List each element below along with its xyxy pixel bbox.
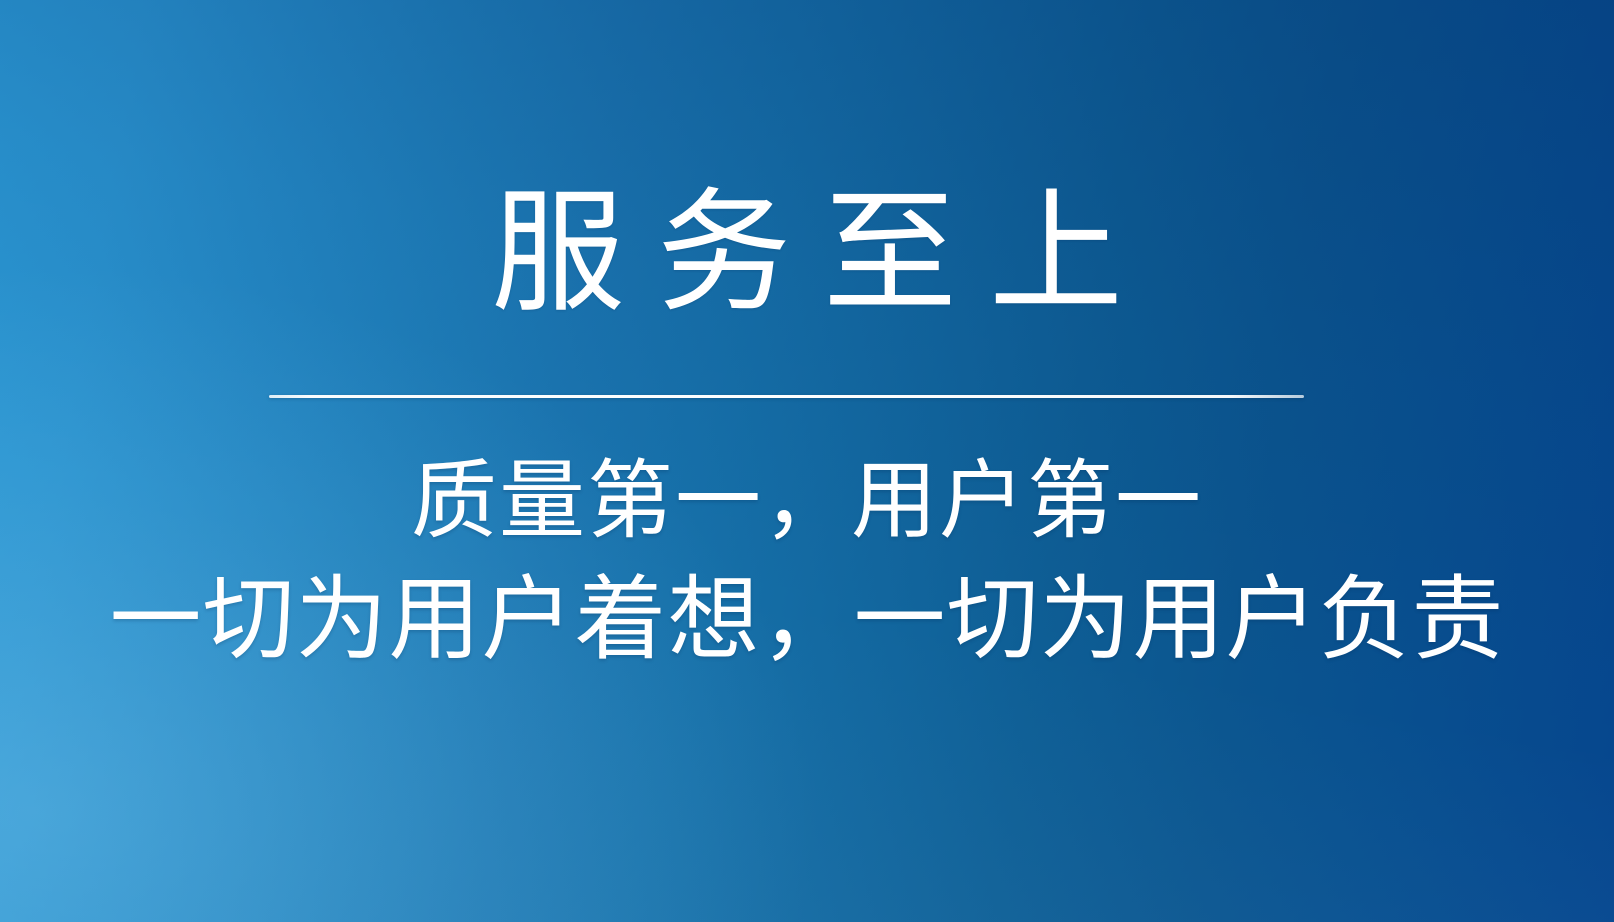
headline-title: 服务至上 <box>0 176 1614 331</box>
service-banner: 服务至上 质量第一，用户第一 一切为用户着想，一切为用户负责 <box>0 0 1614 922</box>
divider-rule <box>269 395 1304 398</box>
subtitle-block: 质量第一，用户第一 一切为用户着想，一切为用户负责 <box>0 444 1614 683</box>
divider-container <box>0 395 1614 398</box>
subtitle-line-1: 质量第一，用户第一 <box>0 444 1614 559</box>
subtitle-line-2: 一切为用户着想，一切为用户负责 <box>0 559 1614 682</box>
banner-content: 服务至上 质量第一，用户第一 一切为用户着想，一切为用户负责 <box>0 0 1614 922</box>
